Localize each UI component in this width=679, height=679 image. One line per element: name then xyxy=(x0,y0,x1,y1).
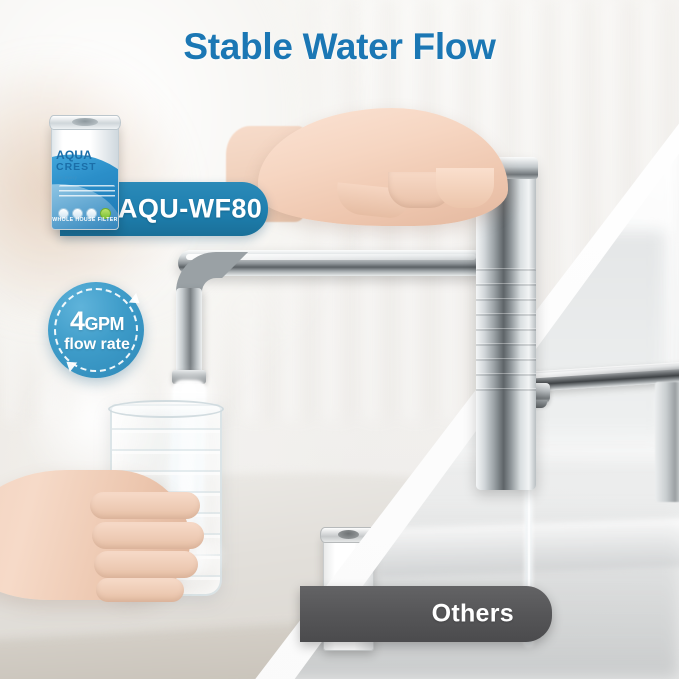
right-faucet-body xyxy=(655,382,679,502)
flow-badge-number: 4 xyxy=(70,306,85,336)
flow-badge-value: 4GPM xyxy=(42,306,152,337)
others-label-text: Others xyxy=(432,600,514,629)
others-filter-hole xyxy=(338,530,359,539)
cartridge-footer-text: WHOLE HOUSE FILTER xyxy=(52,217,118,223)
cartridge-brand-line1: AQUA xyxy=(56,149,118,161)
cartridge-tagline: for every xyxy=(57,175,77,180)
product-infographic: AQU-WF80 AQUA CREST for every WHOLE HOUS… xyxy=(0,0,679,679)
cartridge-brand: AQUA CREST xyxy=(56,149,118,173)
faucet-column-ribs xyxy=(476,268,536,398)
glass-hand-finger-1 xyxy=(90,492,200,519)
cartridge-cap-hole xyxy=(72,118,98,126)
page-title: Stable Water Flow xyxy=(0,26,679,68)
flow-rate-badge: 4GPM flow rate xyxy=(42,282,160,378)
flow-badge-unit: GPM xyxy=(85,314,125,334)
glass-rim xyxy=(108,400,224,418)
others-label-bar: Others xyxy=(300,586,552,642)
hand-finger-2 xyxy=(436,168,494,208)
aquacrest-filter-cartridge: AQUA CREST for every WHOLE HOUSE FILTER xyxy=(48,112,122,234)
cartridge-body: AQUA CREST for every WHOLE HOUSE FILTER xyxy=(51,122,119,230)
glass-hand-finger-4 xyxy=(96,578,184,602)
flow-badge-caption: flow rate xyxy=(42,336,152,354)
glass-hand-finger-3 xyxy=(94,551,198,578)
faucet-downspout xyxy=(176,288,202,380)
cartridge-text-block xyxy=(59,185,115,199)
glass-hand-finger-2 xyxy=(92,522,204,549)
cartridge-brand-line2: CREST xyxy=(56,161,118,173)
model-label-text: AQU-WF80 xyxy=(118,194,262,225)
